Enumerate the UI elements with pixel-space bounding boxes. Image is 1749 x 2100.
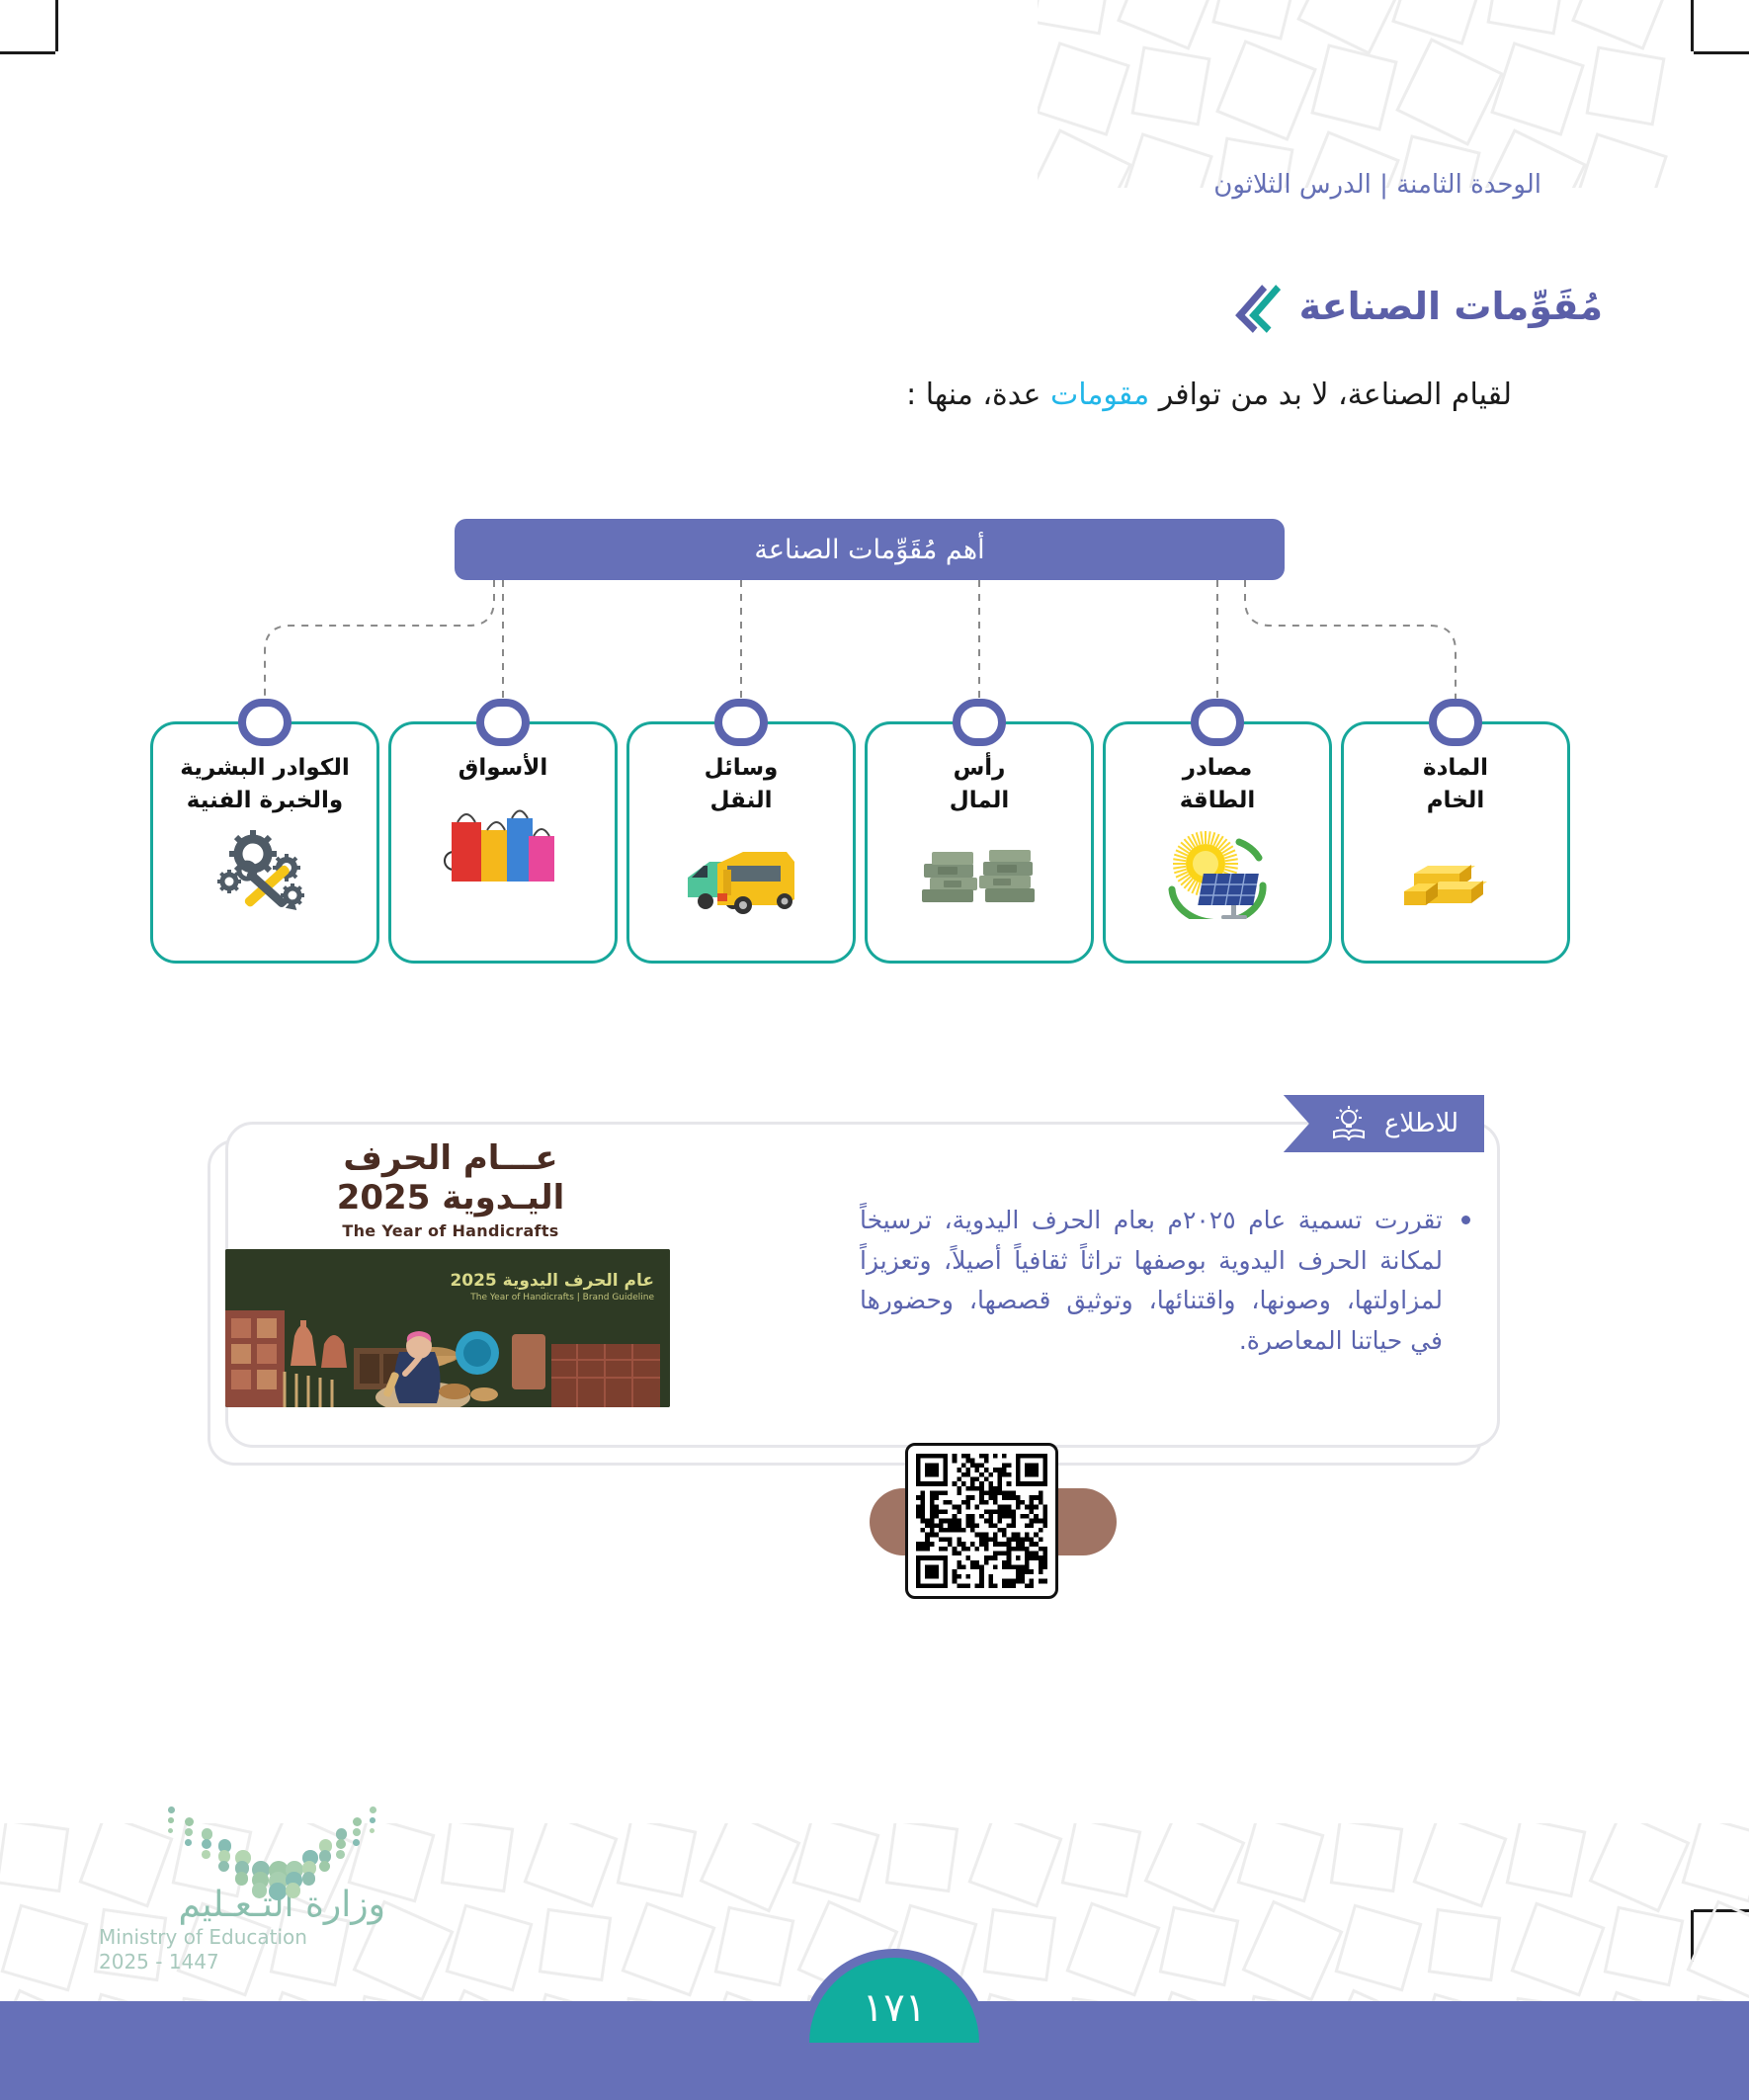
logo-dot (202, 1839, 211, 1849)
decorative-square (1687, 1900, 1749, 2002)
decorative-square (1061, 1823, 1142, 1897)
poster-logo-line3: The Year of Handicrafts (302, 1221, 599, 1240)
logo-dot (168, 1806, 175, 1813)
decorative-square (1334, 1903, 1422, 1991)
decorative-square (1490, 42, 1585, 136)
intro-paragraph: لقيام الصناعة، لا بد من توافر مقومات عدة… (906, 378, 1512, 412)
diagram-node-6: المادة الخام (1341, 721, 1570, 964)
intro-text-before: لقيام الصناعة، لا بد من توافر (1149, 378, 1512, 412)
crop-mark-top-right-v (1691, 0, 1694, 51)
poster-image-title: عام الحرف اليدوية 2025 (450, 1271, 654, 1291)
diagram-node-label: وسائل النقل (705, 752, 779, 816)
banknotes-icon (920, 828, 1039, 919)
decorative-square (1119, 132, 1213, 188)
poster-logo-line2: اليـدوية 2025 (302, 1178, 599, 1218)
logo-dot (336, 1828, 347, 1839)
diagram-node-label: مصادر الطاقة (1180, 752, 1256, 816)
logo-dot (370, 1806, 376, 1813)
ministry-name-ar: وزارة التـعـليم (99, 1886, 385, 1925)
poster-logo-line1: عـــام الحرف (302, 1138, 599, 1178)
ministry-name-en: Ministry of Education (99, 1925, 385, 1950)
diagram-node-4: رأس المال (865, 721, 1094, 964)
logo-dot (336, 1839, 346, 1849)
logo-dot (370, 1817, 375, 1823)
logo-dot (319, 1861, 330, 1872)
decorative-square (1395, 38, 1504, 146)
decorative-square (1330, 1823, 1404, 1892)
decorative-square (1065, 1901, 1160, 1996)
logo-dot (353, 1839, 360, 1846)
diagram-node-label: المادة الخام (1423, 752, 1488, 816)
page-number: ١٧١ (863, 1985, 926, 2031)
decorative-square (1038, 42, 1130, 136)
decorative-square (1571, 0, 1673, 50)
decorative-square (714, 1906, 795, 1987)
info-badge-label: للاطلاع (1384, 1109, 1458, 1138)
decorative-square (617, 1823, 698, 1897)
crop-mark-bottom-right-v (1691, 1910, 1694, 1962)
gears-tools-icon (206, 828, 324, 919)
decorative-square (1144, 1823, 1246, 1912)
node-connector-cap (953, 699, 1006, 746)
poster-image-subtitle: The Year of Handicrafts | Brand Guidelin… (450, 1293, 654, 1302)
decorative-square (700, 1823, 801, 1912)
decorative-square (1038, 128, 1132, 188)
decorative-square (445, 1903, 533, 1991)
diagram-node-label: الأسواق (458, 752, 548, 785)
decorative-square (539, 1908, 613, 1982)
decorative-square (1117, 0, 1218, 50)
logo-dot (202, 1828, 212, 1839)
components-diagram: أهم مُقَوِّمات الصناعة الكوادر البشرية و… (0, 519, 1749, 983)
logo-dot (185, 1817, 194, 1826)
qr-code-group[interactable] (897, 1433, 1124, 1611)
solar-panel-sun-icon (1158, 828, 1277, 919)
decorative-square (1130, 45, 1210, 126)
bus-van-icon (682, 828, 800, 919)
decorative-square (885, 1823, 959, 1892)
qr-code-icon[interactable] (905, 1443, 1058, 1599)
decorative-square (967, 1823, 1062, 1908)
decorative-square (1159, 1906, 1240, 1987)
diagram-connector (1245, 580, 1456, 721)
page-title: مُقَوِّمات الصناعة (1299, 285, 1603, 328)
decorative-square (1486, 0, 1566, 36)
decorative-square (1681, 1823, 1749, 1903)
info-bullet (1461, 1216, 1470, 1224)
decorative-square (1585, 45, 1665, 126)
decorative-square (791, 1823, 879, 1903)
diagram-connector (265, 580, 494, 721)
decorative-square (523, 1823, 618, 1908)
decorative-square (1589, 1823, 1691, 1912)
logo-dot (353, 1828, 361, 1836)
decorative-square (0, 1903, 88, 1991)
decorative-square (1242, 1900, 1344, 2002)
logo-dot (286, 1883, 300, 1897)
decorative-square (1573, 132, 1668, 188)
ministry-logo: وزارة التـعـليم Ministry of Education 20… (99, 1806, 385, 1974)
decorative-square (1506, 1823, 1587, 1897)
info-paragraph: تقررت تسمية عام ٢٠٢٥م بعام الحرف اليدوية… (860, 1201, 1443, 1361)
node-connector-cap (714, 699, 768, 746)
decorative-pattern-top-right (1038, 0, 1749, 188)
ministry-logo-dots (168, 1806, 385, 1876)
node-connector-cap (476, 699, 530, 746)
node-connector-cap (1191, 699, 1244, 746)
decorative-square (1428, 1908, 1502, 1982)
poster-image-caption: عام الحرف اليدوية 2025 The Year of Handi… (450, 1271, 654, 1302)
chevron-left-icon (1252, 285, 1286, 328)
page-number-badge: ١٧١ (800, 1949, 988, 2043)
logo-dot (168, 1828, 173, 1833)
intro-text-after: عدة، منها : (906, 378, 1050, 412)
footer-bar (0, 2043, 1749, 2100)
decorative-square (983, 1908, 1057, 1982)
logo-dot (218, 1861, 229, 1872)
shopping-bags-icon (444, 797, 562, 887)
node-connector-cap (1429, 699, 1482, 746)
decorative-square (1236, 1823, 1324, 1903)
ministry-year: 2025 - 1447 (99, 1950, 385, 1974)
page-title-group: مُقَوِّمات الصناعة (1252, 285, 1603, 328)
diagram-node-1: الكوادر البشرية والخبرة الفنية (150, 721, 379, 964)
decorative-square (441, 1823, 515, 1892)
logo-dot (202, 1850, 210, 1859)
decorative-square (1215, 40, 1317, 141)
logo-dot (353, 1817, 362, 1826)
diagram-node-5: مصادر الطاقة (1103, 721, 1332, 964)
diagram-node-2: الأسواق (388, 721, 618, 964)
lightbulb-book-icon (1329, 1104, 1369, 1143)
diagram-node-3: وسائل النقل (626, 721, 856, 964)
diagram-header: أهم مُقَوِّمات الصناعة (455, 519, 1285, 580)
logo-dot (185, 1828, 193, 1836)
logo-dot (336, 1850, 345, 1859)
decorative-square (1038, 0, 1113, 36)
crop-mark-top-right-h (1694, 51, 1749, 54)
decorative-square (1604, 1906, 1685, 1987)
poster-image: عام الحرف اليدوية 2025 The Year of Handi… (225, 1249, 670, 1407)
intro-keyword: مقومات (1050, 378, 1149, 412)
decorative-square (1211, 0, 1298, 41)
gold-bars-icon (1396, 828, 1515, 919)
decorative-square (1412, 1823, 1507, 1908)
logo-dot (370, 1828, 375, 1833)
decorative-square (621, 1901, 715, 1996)
diagram-node-label: رأس المال (950, 752, 1010, 816)
logo-dot (235, 1872, 248, 1885)
qr-canvas (916, 1454, 1047, 1588)
crop-mark-bottom-right-h (1694, 1909, 1749, 1912)
crop-mark-top-left-v (55, 0, 58, 51)
logo-dot (302, 1872, 315, 1885)
info-badge: للاطلاع (1284, 1095, 1484, 1152)
logo-dot (168, 1817, 174, 1823)
decorative-square (1310, 43, 1397, 130)
logo-dot (269, 1883, 287, 1900)
decorative-square (1510, 1901, 1605, 1996)
crop-mark-top-left-h (0, 51, 55, 54)
decorative-square (1391, 0, 1486, 45)
decorative-square (1296, 0, 1405, 55)
decorative-square (0, 1823, 69, 1892)
diagram-node-label: الكوادر البشرية والخبرة الفنية (180, 752, 349, 816)
logo-dot (252, 1883, 267, 1897)
node-connector-cap (238, 699, 291, 746)
breadcrumb: الوحدة الثامنة | الدرس الثلاثون (1213, 170, 1541, 200)
logo-dot (185, 1839, 192, 1846)
poster-logo: عـــام الحرف اليـدوية 2025 The Year of H… (302, 1138, 599, 1242)
handicrafts-poster: عـــام الحرف اليـدوية 2025 The Year of H… (225, 1138, 670, 1425)
